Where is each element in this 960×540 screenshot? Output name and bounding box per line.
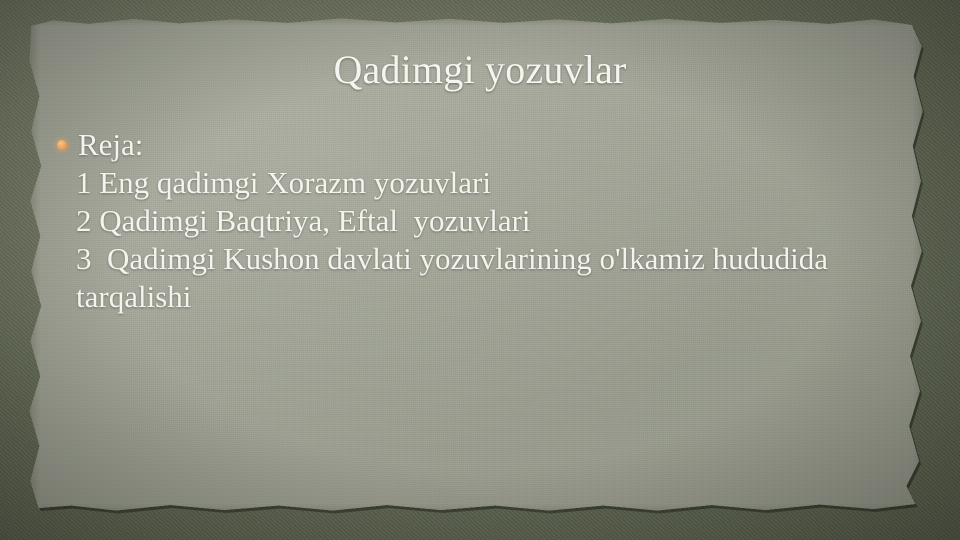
bullet-dot-icon [57,140,67,150]
slide-body: Reja: 1 Eng qadimgi Xorazm yozuvlari 2 Q… [54,126,934,316]
agenda-line-1: 1 Eng qadimgi Xorazm yozuvlari [54,164,934,202]
bullet-item-label: Reja: [78,127,143,162]
presentation-slide: Qadimgi yozuvlar Reja: 1 Eng qadimgi Xor… [0,0,960,540]
slide-content: Qadimgi yozuvlar Reja: 1 Eng qadimgi Xor… [0,0,960,540]
agenda-line-2: 2 Qadimgi Baqtriya, Eftal yozuvlari [54,202,934,240]
slide-title: Qadimgi yozuvlar [0,46,960,94]
agenda-line-3: 3 Qadimgi Kushon davlati yozuvlarining o… [54,240,934,316]
bullet-list-item: Reja: [54,126,934,164]
